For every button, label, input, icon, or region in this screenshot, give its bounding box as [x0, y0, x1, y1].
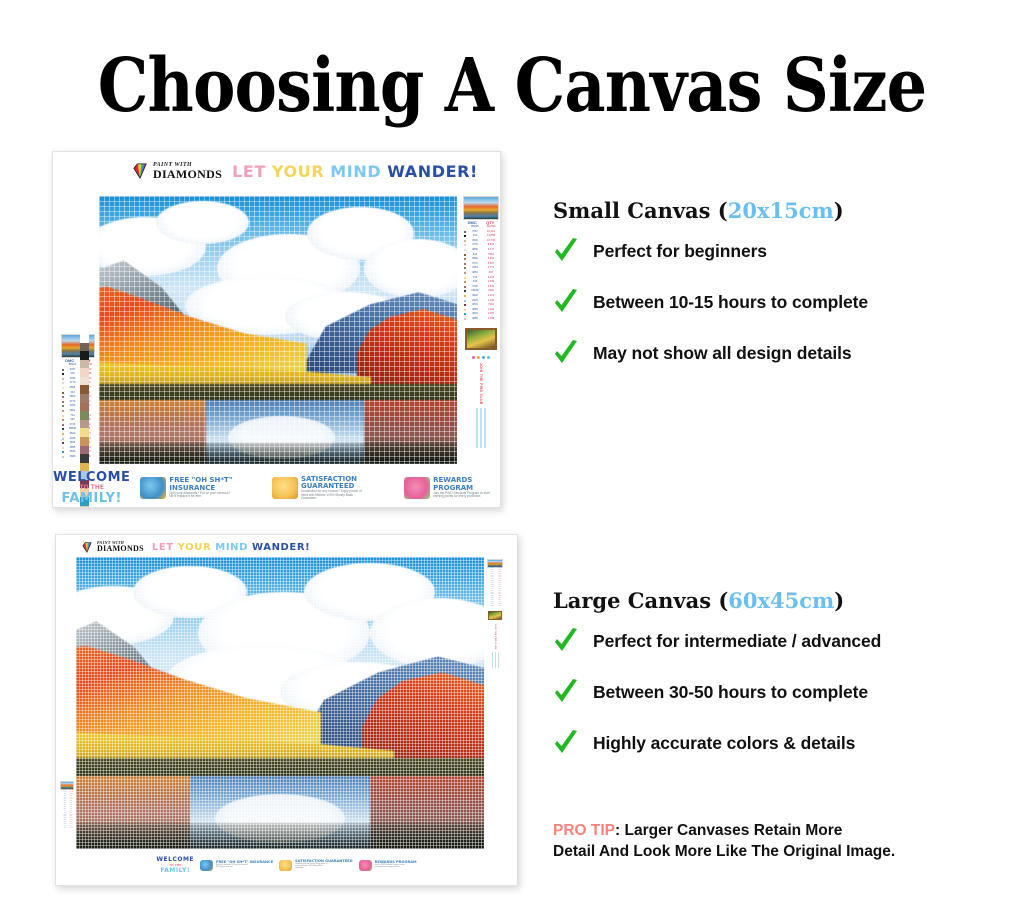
legend-code: 08048 — [467, 289, 483, 293]
check-icon — [553, 339, 579, 367]
legend-row: 378716,412 — [61, 368, 95, 372]
color-legend-right-large: B5200112,846378716,41231011,858303310,73… — [487, 559, 503, 668]
diamond-gem-icon — [81, 542, 93, 553]
check-icon — [553, 678, 579, 706]
small-canvas-section: Small Canvas (20x15cm) Perfect for begin… — [553, 198, 868, 390]
welcome-block: WELCOME TO THE FAMILY! — [156, 857, 194, 874]
tagline-small: LET YOUR MIND WANDER! — [232, 162, 478, 181]
palette-swatch — [80, 454, 89, 463]
legend-row: 38441,487 — [463, 312, 499, 316]
legend-qty: 2394 — [483, 289, 499, 293]
legend-row: 7443,244 — [463, 276, 499, 280]
legend-rows-left: B5200112,846378716,41231011,858303310,73… — [61, 363, 95, 459]
small-canvas-heading: Small Canvas (20x15cm) — [553, 198, 868, 223]
legend-row: 4347861 — [61, 391, 95, 395]
pro-tip-line2: Detail And Look More Like The Original I… — [553, 843, 895, 860]
check-icon — [553, 627, 579, 655]
club-bars-decoration — [492, 652, 499, 668]
promo-item-insurance: FREE "OH SH*T" INSURANCE Spill your diam… — [200, 860, 273, 871]
palette-swatch — [80, 437, 89, 446]
legend-code: 3834 — [65, 441, 80, 445]
legend-code: 310 — [65, 372, 80, 376]
welcome-block: WELCOME TO THE FAMILY! — [53, 471, 130, 505]
mosaic-artwork-large — [76, 557, 484, 849]
original-image-thumbnail — [61, 334, 95, 358]
logo-diamonds: DIAMONDS — [153, 168, 222, 180]
rewards-icon — [404, 477, 430, 499]
promo-item-satisfaction: SATISFACTION GUARANTEED Unsatisfied for … — [272, 476, 394, 501]
legend-code: 08048 — [65, 427, 80, 431]
legend-code: 744 — [467, 276, 483, 280]
legend-code: 434 — [65, 391, 80, 395]
list-item: Perfect for intermediate / advanced — [553, 627, 881, 655]
framed-artwork-icon — [488, 611, 502, 620]
legend-qty: 1,048 — [483, 317, 499, 321]
palette-swatch — [80, 377, 89, 386]
legend-code: 3880 — [65, 455, 80, 459]
palette-swatch — [80, 343, 89, 352]
original-image-thumbnail — [463, 196, 499, 220]
color-legend-left-large: B5200112,846378716,41231011,858303310,73… — [60, 781, 74, 830]
palette-swatch — [80, 411, 89, 420]
club-label: JOIN THE PWD CLUB — [494, 624, 496, 649]
large-canvas-heading: Large Canvas (60x45cm) — [553, 588, 881, 613]
legend-code: 3834 — [467, 303, 483, 307]
legend-row: B5200112,846 — [61, 363, 95, 367]
legend-row: 38606,860 — [463, 257, 499, 261]
small-canvas-bullets: Perfect for beginners Between 10-15 hour… — [553, 237, 868, 367]
legend-code: 3820 — [467, 294, 483, 298]
legend-row: 38201,074 — [463, 294, 499, 298]
list-item: Between 10-15 hours to complete — [553, 288, 868, 316]
page-title: Choosing A Canvas Size — [72, 44, 953, 128]
legend-qty: 112,846 — [483, 225, 499, 229]
legend-qty: 1,048 — [68, 828, 74, 830]
legend-row: 33251,344 — [61, 437, 95, 441]
legend-code: 3820 — [65, 432, 80, 436]
legend-code: B5200 — [467, 225, 483, 229]
promo-item-satisfaction: SATISFACTION GUARANTEED Unsatisfied for … — [279, 860, 352, 871]
legend-qty: 1,466 — [483, 280, 499, 284]
legend-qty: 1,048 — [496, 606, 503, 608]
legend-row: 31011,858 — [463, 234, 499, 238]
large-canvas-section: Large Canvas (60x45cm) Perfect for inter… — [553, 588, 881, 780]
list-item: Perfect for beginners — [553, 237, 868, 265]
large-canvas-preview: PAINT WITH DIAMONDS LET YOUR MIND WANDER… — [55, 534, 518, 886]
tagline-word-wander: WANDER! — [387, 162, 478, 181]
legend-qty: 7344 — [483, 303, 499, 307]
promo-item-insurance: FREE "OH SH*T" INSURANCE Spill your diam… — [140, 477, 262, 499]
original-image-thumbnail — [487, 559, 503, 568]
legend-code: 310 — [467, 234, 483, 238]
legend-code: 3363 — [65, 404, 80, 408]
legend-code: 436 — [467, 280, 483, 284]
list-item: May not show all design details — [553, 339, 868, 367]
palette-swatch — [80, 394, 89, 403]
legend-code: 3325 — [467, 299, 483, 303]
list-item-label: May not show all design details — [593, 343, 851, 364]
legend-row: 37709,841 — [61, 381, 95, 385]
mosaic-artwork-small — [99, 196, 457, 464]
club-bars-decoration — [476, 408, 486, 448]
legend-code: 3866 — [65, 386, 80, 390]
legend-code: 436 — [65, 418, 80, 422]
legend-row: 33251,344 — [463, 299, 499, 303]
legend-code: 3860 — [65, 395, 80, 399]
legend-row: 3861647 — [61, 409, 95, 413]
list-item: Between 30-50 hours to complete — [553, 678, 881, 706]
legend-row: 38347344 — [463, 303, 499, 307]
legend-rows-right: B5200112,846378716,41231011,858303310,73… — [463, 225, 499, 321]
legend-row: 38669,177 — [463, 248, 499, 252]
legend-code: 3787 — [65, 368, 80, 372]
legend-row: 38801,048 — [61, 455, 95, 459]
club-label: JOIN THE PWD CLUB — [479, 363, 483, 405]
legend-rows-right: B5200112,846378716,41231011,858303310,73… — [487, 568, 503, 608]
legend-code: 3861 — [65, 409, 80, 413]
brand-header-large: PAINT WITH DIAMONDS LET YOUR MIND WANDER… — [81, 540, 310, 554]
pro-tip-line1: : Larger Canvases Retain More — [615, 822, 842, 839]
legend-row: 4361,466 — [61, 418, 95, 422]
small-canvas-dimensions: 20x15cm — [728, 198, 834, 223]
palette-swatch — [80, 385, 89, 394]
legend-code: 3844 — [467, 312, 483, 316]
palette-swatch — [80, 368, 89, 377]
tagline-word-let: LET — [152, 542, 174, 553]
canvas-size-infographic: Choosing A Canvas Size — [0, 0, 1024, 924]
framed-artwork-icon — [465, 328, 497, 350]
legend-row: 7443,244 — [61, 414, 95, 418]
palette-swatch — [80, 334, 89, 343]
club-dots-icon — [472, 356, 490, 359]
rewards-icon — [359, 860, 372, 871]
legend-qty: 1,074 — [483, 294, 499, 298]
legend-code: 3880 — [467, 317, 483, 321]
legend-row: 3861647 — [463, 271, 499, 275]
tagline-word-your: YOUR — [272, 162, 324, 181]
legend-row: 38669,177 — [61, 386, 95, 390]
legend-rows-left: B5200112,846378716,41231011,858303310,73… — [60, 790, 74, 830]
tagline-word-wander: WANDER! — [252, 542, 310, 553]
legend-code: 3861 — [467, 271, 483, 275]
legend-row: 38801,048 — [60, 828, 74, 830]
pro-tip-label: PRO TIP — [553, 822, 615, 839]
legend-row: B5200112,846 — [463, 225, 499, 229]
legend-row: 080482394 — [61, 427, 95, 431]
color-legend-right-small: DMC QTY B5200112,846378716,41231011,8583… — [463, 196, 499, 448]
legend-qty: 11,858 — [483, 234, 499, 238]
palette-swatch — [80, 351, 89, 360]
legend-code: 744 — [65, 414, 80, 418]
list-item: Highly accurate colors & details — [553, 729, 881, 757]
satisfaction-icon — [272, 477, 298, 499]
legend-row: 37709,841 — [463, 243, 499, 247]
legend-code: 3844 — [65, 450, 80, 454]
legend-row: 33634,771 — [463, 266, 499, 270]
list-item-label: Highly accurate colors & details — [593, 733, 855, 754]
list-item-label: Between 10-15 hours to complete — [593, 292, 868, 313]
legend-code: 3787 — [467, 230, 483, 234]
list-item-label: Perfect for beginners — [593, 241, 767, 262]
insurance-icon — [140, 477, 166, 499]
check-icon — [553, 729, 579, 757]
color-legend-left-small: DMC QTY B5200112,846378716,41231011,8583… — [61, 334, 95, 459]
original-image-thumbnail — [60, 781, 74, 790]
tagline-word-let: LET — [232, 162, 266, 181]
diamond-gem-icon — [131, 163, 149, 179]
legend-row: 38201,074 — [61, 432, 95, 436]
tagline-word-mind: MIND — [330, 162, 381, 181]
legend-qty: 1,344 — [483, 299, 499, 303]
legend-row: 38441,487 — [61, 450, 95, 454]
legend-code: 434 — [467, 253, 483, 257]
legend-code: B5200 — [65, 363, 80, 367]
legend-qty: 3,244 — [483, 276, 499, 280]
palette-swatch — [80, 428, 89, 437]
tagline-word-mind: MIND — [215, 542, 248, 553]
legend-row: 31011,858 — [61, 372, 95, 376]
tagline-large: LET YOUR MIND WANDER! — [152, 542, 310, 553]
list-item-label: Between 30-50 hours to complete — [593, 682, 868, 703]
palette-swatch — [80, 420, 89, 429]
legend-qty: 9,177 — [483, 248, 499, 252]
legend-row: 38801,048 — [463, 317, 499, 321]
large-canvas-dimensions: 60x45cm — [728, 588, 834, 613]
legend-code: 3363 — [467, 266, 483, 270]
promo-item-rewards: REWARDS PROGRAM Join the PWD Rewards Pro… — [404, 477, 500, 499]
legend-code: 3770 — [65, 381, 80, 385]
palette-swatch — [80, 403, 89, 412]
satisfaction-icon — [279, 860, 292, 871]
legend-qty: 7861 — [483, 253, 499, 257]
tagline-word-your: YOUR — [178, 542, 212, 553]
legend-qty: 4,771 — [483, 266, 499, 270]
legend-row: 38801,048 — [487, 606, 503, 608]
palette-swatch — [80, 360, 89, 369]
check-icon — [553, 288, 579, 316]
legend-qty: 16,412 — [483, 230, 499, 234]
insurance-icon — [200, 860, 213, 871]
legend-code: 3770 — [467, 243, 483, 247]
check-icon — [553, 237, 579, 265]
promo-band-small: WELCOME TO THE FAMILY! FREE "OH SH*T" IN… — [53, 470, 500, 506]
legend-qty: 1,487 — [483, 312, 499, 316]
legend-code: 3866 — [467, 248, 483, 252]
pro-tip: PRO TIP: Larger Canvases Retain More Det… — [553, 820, 895, 862]
legend-row: 378716,412 — [463, 230, 499, 234]
small-canvas-preview: PAINT WITH DIAMONDS LET YOUR MIND WANDER… — [52, 151, 501, 508]
legend-row: 38347344 — [61, 441, 95, 445]
legend-code: 3860 — [467, 257, 483, 261]
legend-qty: 647 — [483, 271, 499, 275]
list-item-label: Perfect for intermediate / advanced — [593, 631, 881, 652]
promo-item-rewards: REWARDS PROGRAM Join the PWD Rewards Pro… — [359, 860, 417, 871]
legend-row: 33634,771 — [61, 404, 95, 408]
legend-row: 4347861 — [463, 253, 499, 257]
legend-row: 38606,860 — [61, 395, 95, 399]
logo-diamonds: DIAMONDS — [97, 545, 144, 553]
brand-header-small: PAINT WITH DIAMONDS LET YOUR MIND WANDER… — [131, 160, 478, 182]
legend-code: 3880 — [489, 606, 496, 608]
legend-qty: 6,860 — [483, 257, 499, 261]
legend-row: 4361,466 — [463, 280, 499, 284]
legend-code: 3325 — [65, 437, 80, 441]
large-canvas-bullets: Perfect for intermediate / advanced Betw… — [553, 627, 881, 757]
legend-qty: 9,841 — [483, 243, 499, 247]
palette-swatch — [80, 446, 89, 455]
legend-row: 080482394 — [463, 289, 499, 293]
promo-band-large: WELCOME TO THE FAMILY! FREE "OH SH*T" IN… — [56, 855, 517, 875]
